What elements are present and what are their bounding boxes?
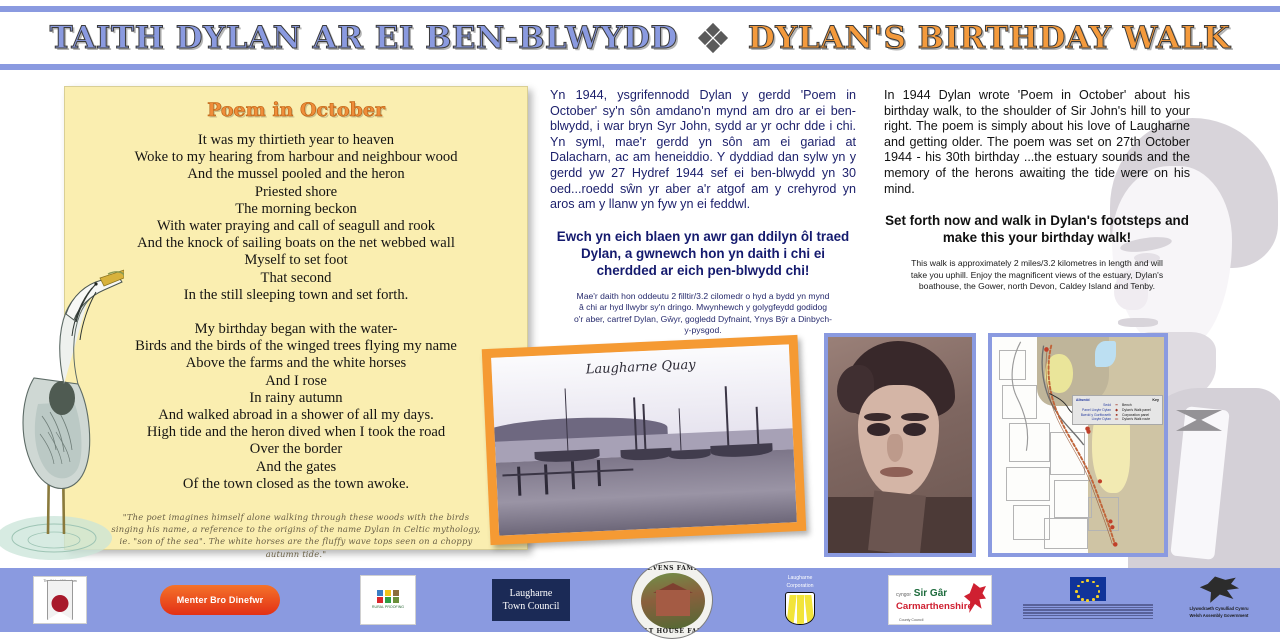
- legend-label-welsh: Llwybr Dylan: [1076, 417, 1111, 422]
- poem-line: And the mussel pooled and the heron: [81, 166, 511, 183]
- logo-slot-award: The Wales Millennium: [0, 573, 120, 627]
- logo-slot-grid: RURAL PROOFING: [320, 573, 456, 627]
- sirgar-tagline: County Council: [899, 618, 923, 622]
- menter-bro-dinefwr-logo: Menter Bro Dinefwr: [160, 585, 280, 615]
- logo-slot-welsh-assembly: Llywodraeth Cynulliad Cymru Welsh Assemb…: [1158, 573, 1280, 627]
- poem-line: In rainy autumn: [81, 390, 511, 407]
- english-call-to-action: Set forth now and walk in Dylan's footst…: [884, 212, 1190, 246]
- walk-route-map[interactable]: Allwedd Key Sedd ━ Bench Panel Llwybr Dy…: [992, 337, 1164, 553]
- logo-slot-menter: Menter Bro Dinefwr: [120, 573, 320, 627]
- poem-line: My birthday began with the water-: [81, 321, 511, 338]
- logo-slot-stevens: STEVENS FAMILY SALT HOUSE FARM: [606, 573, 738, 627]
- legend-row: Llwybr Dylan ••• Dylan's Walk route: [1076, 417, 1159, 422]
- poem-line: Woke to my hearing from harbour and neig…: [81, 149, 511, 166]
- laugharne-quay-photo-frame: Laugharne Quay: [482, 335, 807, 545]
- sir-gar-carmarthenshire-logo: cyngor Sir Gâr Carmarthenshire County Co…: [888, 575, 992, 625]
- wag-line-2: Welsh Assembly Government: [1190, 613, 1249, 618]
- welsh-assembly-government-logo: Llywodraeth Cynulliad Cymru Welsh Assemb…: [1161, 576, 1277, 624]
- poem-commentary-note: "The poet imagines himself alone walking…: [65, 511, 527, 560]
- welsh-walk-details: Mae'r daith hon oddeutu 2 filltir/3.2 ci…: [550, 291, 856, 337]
- poem-line: And the knock of sailing boats on the ne…: [81, 235, 511, 252]
- dylan-thomas-portrait-photo: [828, 337, 972, 553]
- diamond-cluster-icon: [700, 25, 726, 51]
- eu-caption-lines: [1023, 603, 1153, 620]
- poem-title: Poem in October: [65, 99, 527, 121]
- welsh-dragon-icon: [1199, 576, 1239, 604]
- poem-line: Priested shore: [81, 184, 511, 201]
- poem-line: With water praying and call of seagull a…: [81, 218, 511, 235]
- corporation-shield-icon: [785, 592, 815, 625]
- eu-flag-icon: [1070, 577, 1106, 601]
- poem-stanza-2: My birthday began with the water- Birds …: [65, 321, 527, 493]
- sirgar-welsh: Sir Gâr: [914, 588, 947, 599]
- logo-slot-sirgar: cyngor Sir Gâr Carmarthenshire County Co…: [862, 573, 1018, 627]
- poem-line: That second: [81, 270, 511, 287]
- poem-line: And the gates: [81, 459, 511, 476]
- european-union-funding-logo: [1023, 577, 1153, 623]
- poem-stanza-1: It was my thirtieth year to heaven Woke …: [65, 132, 527, 304]
- corp-caption-1: Laugharne: [788, 575, 813, 581]
- poem-line: Over the border: [81, 441, 511, 458]
- map-route-path: [992, 337, 1164, 553]
- panel-body: Poem in October It was my thirtieth year…: [0, 70, 1280, 568]
- ltc-line-2: Town Council: [503, 600, 560, 613]
- corp-caption-2: Corporation: [786, 583, 813, 589]
- panel-title-welsh: TAITH DYLAN AR EI BEN-BLWYDD: [50, 23, 678, 54]
- laugharne-town-council-logo: Laugharne Town Council: [492, 579, 570, 621]
- poem-line: High tide and the heron dived when I too…: [81, 424, 511, 441]
- poem-line: In the still sleeping town and set forth…: [81, 287, 511, 304]
- ltc-line-1: Laugharne: [510, 587, 553, 600]
- stevens-arc-bottom: SALT HOUSE FARM: [632, 628, 712, 635]
- panel-title-english: DYLAN'S BIRTHDAY WALK: [748, 23, 1231, 54]
- poem-line: Of the town closed as the town awoke.: [81, 476, 511, 493]
- stevens-family-salt-house-farm-logo: STEVENS FAMILY SALT HOUSE FARM: [631, 561, 713, 639]
- sirgar-english: Carmarthenshire: [896, 601, 973, 612]
- poem-line: Myself to set foot: [81, 252, 511, 269]
- poem-line: It was my thirtieth year to heaven: [81, 132, 511, 149]
- dylan-thomas-portrait-frame: [824, 333, 976, 557]
- welsh-body-paragraph: Yn 1944, ysgrifennodd Dylan y gerdd 'Poe…: [550, 88, 856, 213]
- laugharne-quay-photo: Laugharne Quay: [491, 344, 797, 535]
- english-body-paragraph: In 1944 Dylan wrote 'Poem in October' ab…: [884, 88, 1190, 197]
- poem-line: Birds and the birds of the winged trees …: [81, 338, 511, 355]
- grid-logo-caption: RURAL PROOFING: [372, 605, 404, 610]
- poem-line: And I rose: [81, 373, 511, 390]
- sponsor-logo-bar: The Wales Millennium Menter Bro Dinefwr: [0, 573, 1280, 627]
- welsh-text-column: Yn 1944, ysgrifennodd Dylan y gerdd 'Poe…: [550, 88, 856, 336]
- title-banner: TAITH DYLAN AR EI BEN-BLWYDD DYLAN'S BIR…: [0, 12, 1280, 64]
- poem-line: Above the farms and the white horses: [81, 355, 511, 372]
- logo-slot-town-council: Laugharne Town Council: [456, 573, 606, 627]
- poem-card: Poem in October It was my thirtieth year…: [64, 86, 528, 550]
- heron-illustration: [0, 266, 124, 568]
- award-ribbon-logo: The Wales Millennium: [33, 576, 87, 624]
- map-legend: Allwedd Key Sedd ━ Bench Panel Llwybr Dy…: [1072, 395, 1163, 424]
- legend-symbol-route-icon: •••: [1113, 417, 1120, 422]
- logo-slot-eu: [1018, 573, 1158, 627]
- welsh-call-to-action: Ewch yn eich blaen yn awr gan ddilyn ôl …: [550, 228, 856, 279]
- stevens-arc-top: STEVENS FAMILY: [632, 565, 712, 572]
- walk-route-map-frame[interactable]: Allwedd Key Sedd ━ Bench Panel Llwybr Dy…: [988, 333, 1168, 557]
- wag-line-1: Llywodraeth Cynulliad Cymru: [1189, 606, 1248, 611]
- poem-line: The morning beckon: [81, 201, 511, 218]
- sirgar-prefix: cyngor: [896, 592, 911, 598]
- poem-line: And walked abroad in a shower of all my …: [81, 407, 511, 424]
- rural-development-grid-logo: RURAL PROOFING: [360, 575, 416, 625]
- laugharne-corporation-logo: Laugharne Corporation: [769, 575, 831, 625]
- interpretive-panel: TAITH DYLAN AR EI BEN-BLWYDD DYLAN'S BIR…: [0, 0, 1280, 639]
- logo-slot-corporation: Laugharne Corporation: [738, 573, 862, 627]
- legend-label-english: Dylan's Walk route: [1122, 417, 1159, 422]
- english-walk-details: This walk is approximately 2 miles/3.2 k…: [884, 258, 1190, 292]
- english-text-column: In 1944 Dylan wrote 'Poem in October' ab…: [884, 88, 1190, 292]
